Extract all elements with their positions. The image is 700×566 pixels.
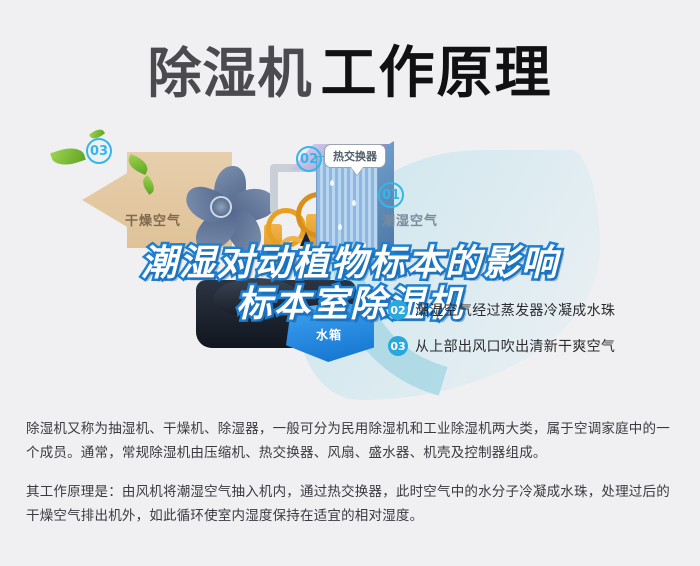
dry-air-label: 干燥空气	[125, 210, 181, 229]
heat-exchanger-callout: 热交换器	[324, 144, 386, 168]
arrow-up-icon	[300, 232, 312, 246]
fan-icon	[176, 158, 268, 250]
step-badge: 02	[388, 300, 408, 320]
paragraph-2: 其工作原理是：由风机将潮湿空气抽入机内，通过热交换器，此时空气中的水分子冷凝成水…	[26, 481, 678, 528]
paragraph-1: 除湿机又称为抽湿机、干燥机、除湿器，一般可分为民用除湿机和工业除湿机两大类，属于…	[26, 418, 678, 465]
water-tank-label: 水箱	[316, 326, 342, 343]
diagram-badge-03: 03	[86, 138, 112, 164]
step-text: 潮湿空气经过蒸发器冷凝成水珠	[415, 300, 615, 320]
body-copy: 除湿机又称为抽湿机、干燥机、除湿器，一般可分为民用除湿机和工业除湿机两大类，属于…	[26, 418, 678, 529]
infographic-page: 除湿机工作原理 干燥空气	[0, 0, 700, 566]
list-item: 02 潮湿空气经过蒸发器冷凝成水珠	[388, 300, 688, 320]
diagram-badge-01: 01	[378, 182, 404, 208]
page-title: 除湿机工作原理	[0, 28, 700, 109]
step-badge: 03	[388, 336, 408, 356]
step-list: 02 潮湿空气经过蒸发器冷凝成水珠 03 从上部出风口吹出清新干爽空气	[388, 300, 688, 372]
step-text: 从上部出风口吹出清新干爽空气	[415, 336, 615, 356]
title-product: 除湿机	[148, 42, 313, 105]
leaf-icon	[50, 143, 86, 169]
diagram-badge-02: 02	[296, 146, 322, 172]
list-item: 03 从上部出风口吹出清新干爽空气	[388, 336, 688, 356]
machine-base-ring	[214, 278, 300, 318]
humid-air-label: 潮湿空气	[382, 210, 438, 229]
